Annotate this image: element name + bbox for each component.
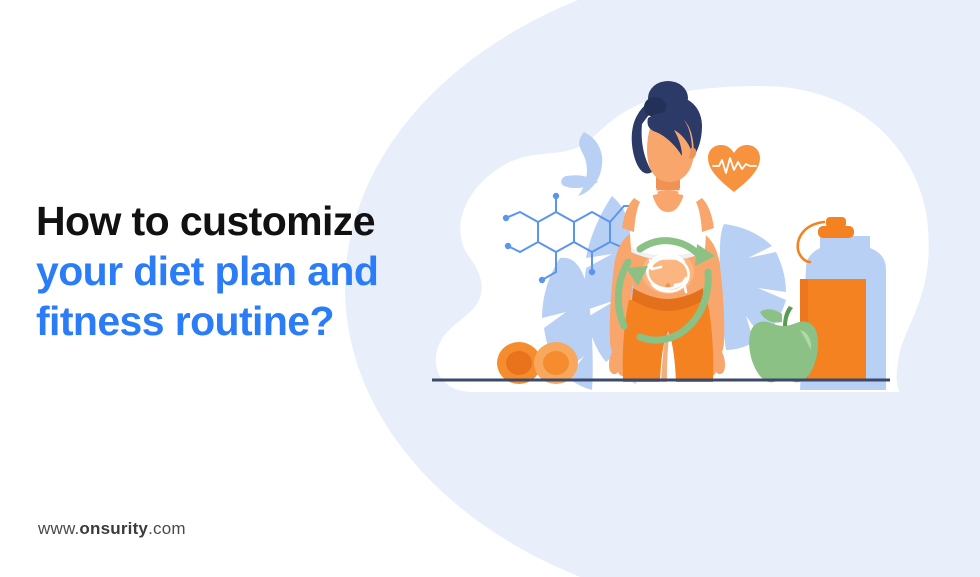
url-prefix: www. (38, 519, 79, 538)
website-url[interactable]: www.onsurity.com (38, 519, 186, 539)
headline-line-2: your diet plan and (36, 246, 466, 296)
headline-line-1: How to customize (36, 196, 466, 246)
headline-line-3: fitness routine? (36, 296, 466, 346)
url-suffix: .com (148, 519, 186, 538)
page-title: How to customize your diet plan and fitn… (36, 196, 466, 346)
promo-banner: How to customize your diet plan and fitn… (0, 0, 980, 577)
url-brand: onsurity (79, 519, 148, 538)
